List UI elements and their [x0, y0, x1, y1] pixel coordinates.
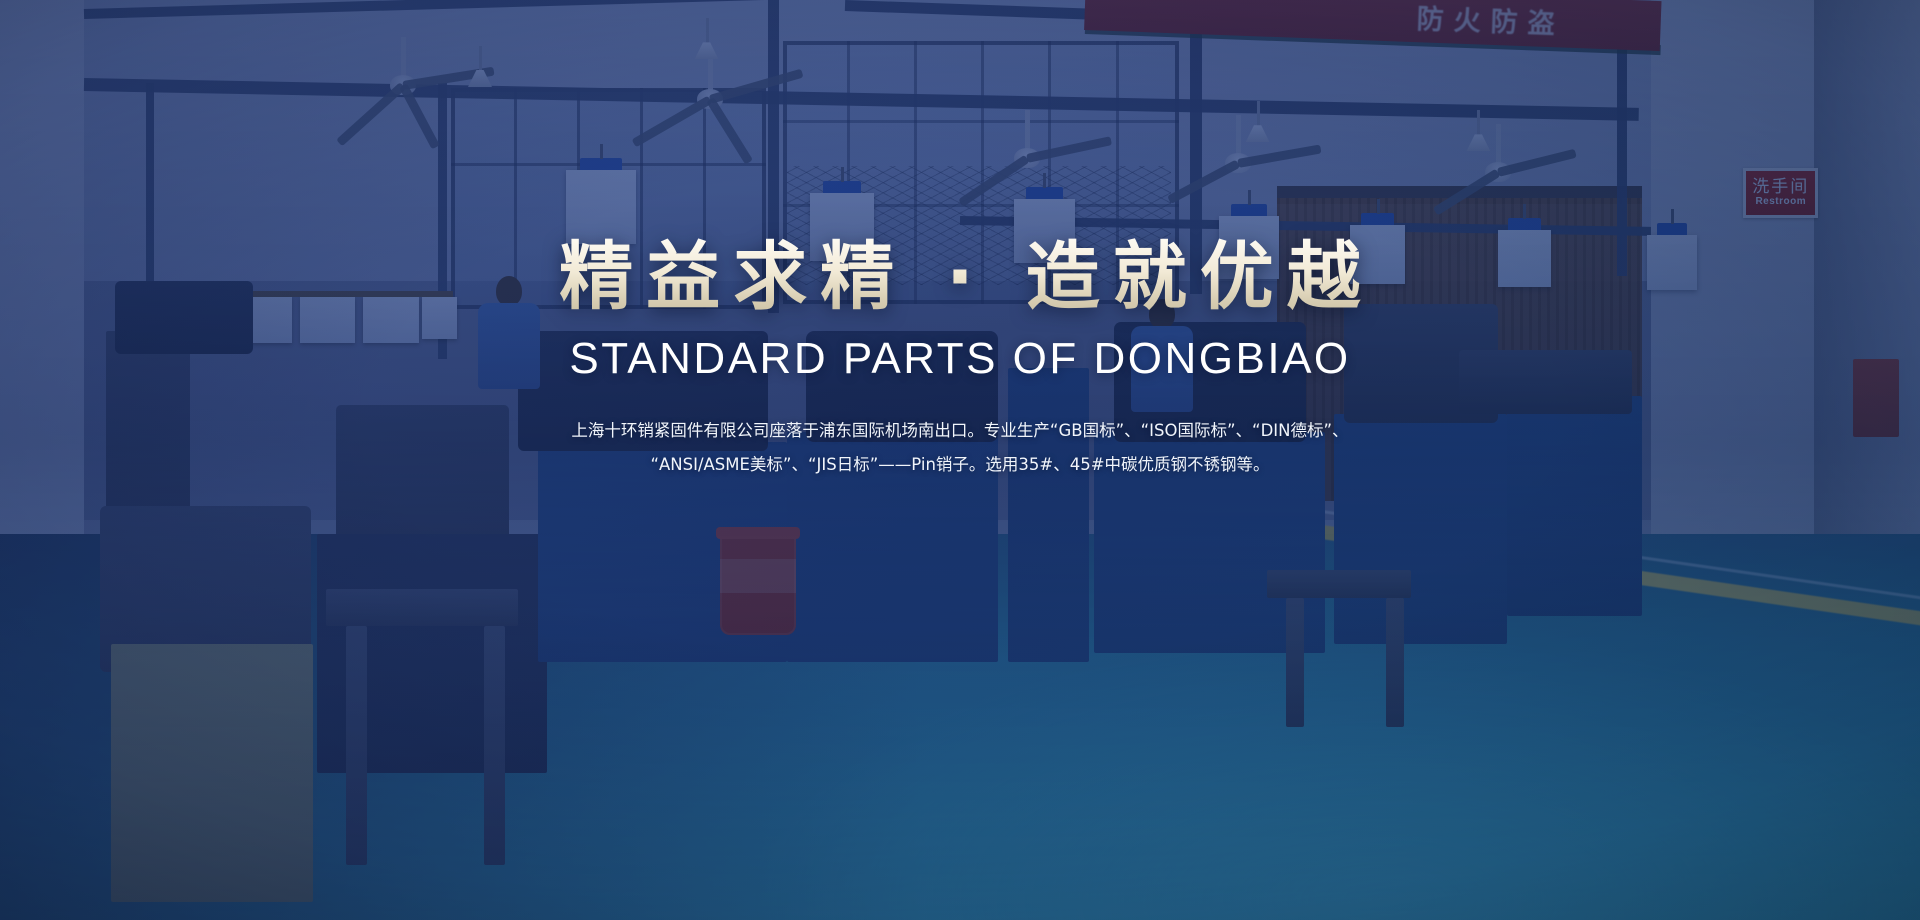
- hero-description: 上海十环销紧固件有限公司座落于浦东国际机场南出口。专业生产“GB国标”、“ISO…: [570, 414, 1350, 482]
- hero-copy-block: 精益求精 · 造就优越 STANDARD PARTS OF DONGBIAO 上…: [0, 0, 1920, 920]
- hero-headline: 精益求精 · 造就优越: [559, 238, 1374, 318]
- hero-subheadline: STANDARD PARTS OF DONGBIAO: [569, 334, 1350, 384]
- hero-banner: 防火防盗: [0, 0, 1920, 920]
